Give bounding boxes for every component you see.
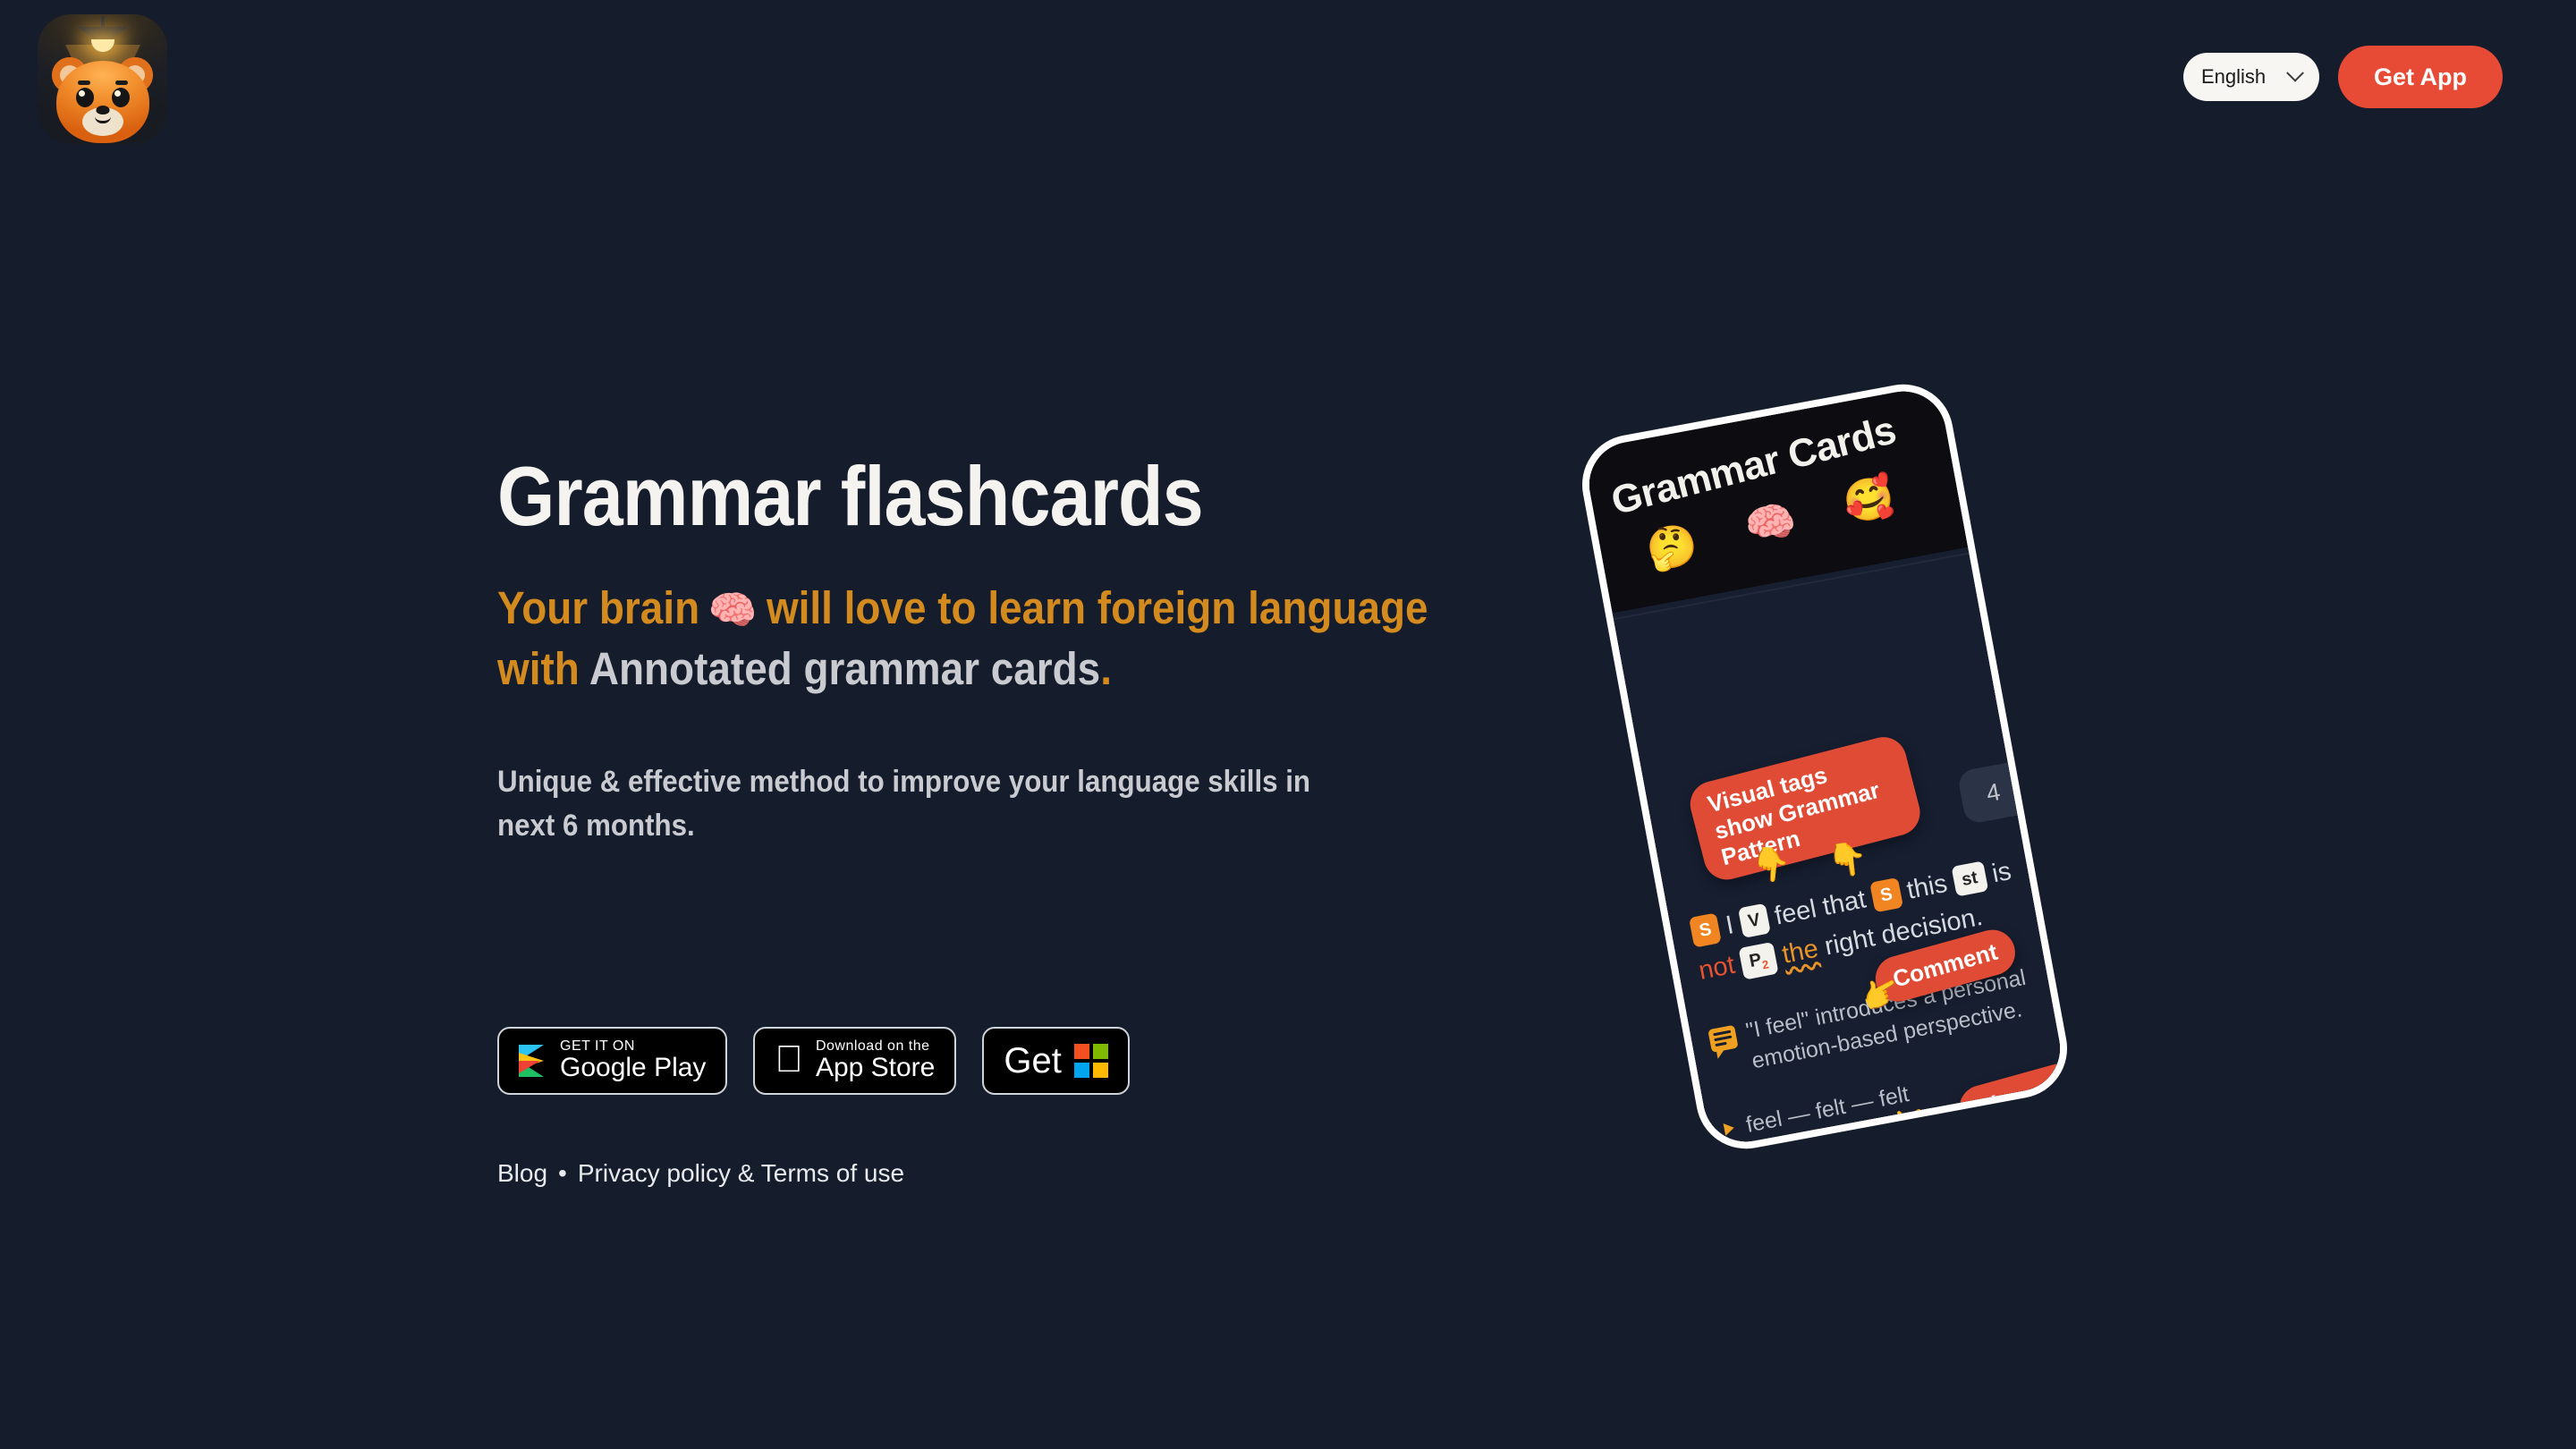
tagline-highlight: Annotated grammar cards xyxy=(589,643,1100,694)
get-app-button[interactable]: Get App xyxy=(2338,46,2503,108)
card-body: 4 Visual tags show Grammar Pattern 👇 👇 S… xyxy=(1613,547,2067,1148)
word-this: this xyxy=(1904,869,1949,905)
bear-eye-left xyxy=(76,88,94,107)
phone-frame: Grammar Cards 🤔 🧠 🥰 4 Visual tags show G… xyxy=(1574,377,2076,1157)
footer-links: Blog • Privacy policy & Terms of use xyxy=(497,1159,904,1188)
phone-mockup: Grammar Cards 🤔 🧠 🥰 4 Visual tags show G… xyxy=(1619,385,2084,1172)
bear-eye-right xyxy=(112,88,130,107)
hero-section: Grammar flashcards Your brain 🧠 will lov… xyxy=(497,454,1481,848)
hero-subtitle: Unique & effective method to improve you… xyxy=(497,760,1369,849)
hero-tagline: Your brain 🧠 will love to learn foreign … xyxy=(497,578,1455,699)
brain-emoji-icon: 🧠 xyxy=(708,585,758,638)
bear-nose xyxy=(96,106,109,114)
bear-lamp-logo-icon[interactable] xyxy=(38,14,167,144)
word-is: is xyxy=(1990,857,2014,888)
privacy-terms-link[interactable]: Privacy policy & Terms of use xyxy=(578,1159,904,1188)
chevron-down-icon xyxy=(2286,64,2304,82)
app-store-label: App Store xyxy=(816,1054,935,1082)
smiling-hearts-emoji-icon: 🥰 xyxy=(1838,470,1900,530)
language-select-value: English xyxy=(2201,65,2266,89)
tag-subject-2: S xyxy=(1869,877,1902,913)
app-store-badge[interactable]:  Download on the App Store xyxy=(753,1027,956,1095)
bear-head xyxy=(56,61,149,143)
google-play-badge[interactable]: GET IT ON Google Play xyxy=(497,1027,727,1095)
page-title: Grammar flashcards xyxy=(497,454,1363,538)
store-badges: GET IT ON Google Play  Download on the … xyxy=(497,1027,1130,1095)
word-i: I xyxy=(1724,911,1736,940)
thinking-face-emoji-icon: 🤔 xyxy=(1641,517,1703,577)
pointing-hand-icon: 👇 xyxy=(1826,839,1869,881)
word-the: the xyxy=(1780,935,1821,970)
card-counter: 4 xyxy=(1957,760,2030,825)
word-not: not xyxy=(1697,951,1738,986)
tag-p2: P2 xyxy=(1739,942,1779,979)
apple-icon:  xyxy=(775,1040,803,1078)
bear-brow-right xyxy=(115,80,128,85)
tag-visual-badge: Visual tags show Grammar Pattern xyxy=(1685,733,1925,885)
tag-subject-1: S xyxy=(1689,912,1722,948)
pointing-hand-icon: 👇 xyxy=(1749,844,1792,885)
language-select[interactable]: English xyxy=(2183,53,2319,101)
tagline-part1: Your brain xyxy=(497,582,711,633)
microsoft-store-label: Get xyxy=(1004,1041,1061,1081)
brain-emoji-icon: 🧠 xyxy=(1740,494,1801,554)
link-separator: • xyxy=(558,1159,567,1188)
google-play-small-label: GET IT ON xyxy=(560,1038,706,1054)
tagline-period: . xyxy=(1100,643,1112,694)
landing-page: English Get App Grammar flashcards Your … xyxy=(0,0,2576,1449)
bullet-triangle-icon xyxy=(1724,1122,1735,1136)
microsoft-logo-icon xyxy=(1074,1044,1108,1078)
tag-verb: V xyxy=(1737,903,1770,939)
comment-icon xyxy=(1707,1025,1738,1053)
bear-brow-left xyxy=(78,80,90,85)
phrase-text: feel — felt — felt xyxy=(1742,1075,1912,1144)
google-play-icon xyxy=(519,1045,547,1077)
word-feel-that: feel that xyxy=(1772,885,1868,930)
blog-link[interactable]: Blog xyxy=(497,1159,547,1188)
microsoft-store-badge[interactable]: Get xyxy=(982,1027,1129,1095)
tag-state: st xyxy=(1951,860,1988,897)
app-store-small-label: Download on the xyxy=(816,1038,935,1054)
google-play-label: Google Play xyxy=(560,1054,706,1082)
phone-screen: Grammar Cards 🤔 🧠 🥰 4 Visual tags show G… xyxy=(1582,385,2067,1148)
